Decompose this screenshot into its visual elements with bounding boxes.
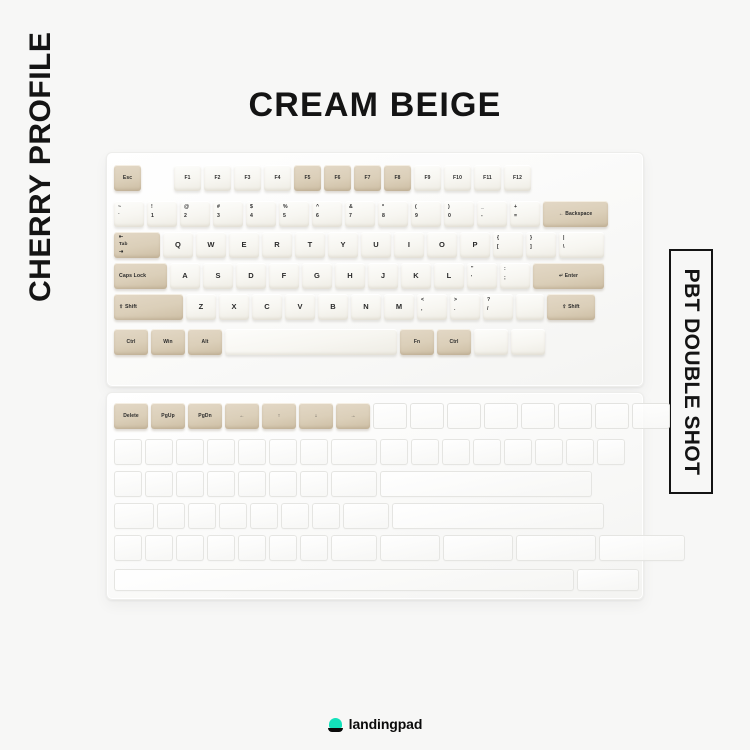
keycap-w: W (196, 232, 226, 258)
keycap-legend-bottom: [ (497, 244, 523, 251)
keycap-legend-bottom: ` (118, 213, 144, 220)
keycap-legend: L (447, 271, 452, 280)
keycap-m: M (384, 294, 414, 320)
empty-keycap-socket (380, 535, 440, 561)
empty-keycap-socket (238, 471, 266, 497)
keycap-v: V (285, 294, 315, 320)
empty-keycap-socket (207, 471, 235, 497)
keycap-win: Win (151, 329, 185, 355)
empty-keycap-socket (269, 439, 297, 465)
keycap-legend-top: ~ (118, 204, 144, 211)
keycap-legend: X (231, 302, 236, 311)
keycap-t: T (295, 232, 325, 258)
keycap-sym: :; (500, 263, 530, 289)
keycap-legend: H (347, 271, 353, 280)
empty-keycap-socket (331, 471, 377, 497)
empty-keycap-socket (300, 439, 328, 465)
keycap-legend-bottom: 3 (217, 213, 243, 220)
empty-keycap-socket (392, 503, 604, 529)
empty-keycap-socket (250, 503, 278, 529)
keycap-legend: F6 (334, 175, 340, 181)
keycap-legend: ← Backspace (559, 211, 593, 217)
keyboard-row-qwerty-row: ⇤Tab⇥QWERTYUIOP{[}]|\ (114, 232, 607, 258)
keycap-legend: U (373, 240, 379, 249)
keycap-sym: ↓ (299, 403, 333, 429)
empty-keycap-socket (331, 439, 377, 465)
keycap-legend-top: { (497, 235, 523, 242)
keycap-n: N (351, 294, 381, 320)
keycap-blank (558, 403, 592, 429)
keycap-s: S (203, 263, 233, 289)
keycap-f11: F11 (474, 165, 501, 191)
empty-keycap-socket (207, 535, 235, 561)
arrow-icon: ↓ (315, 414, 318, 419)
keycap-legend-top: # (217, 204, 243, 211)
keycap-sym: )0 (444, 201, 474, 227)
keycap-blank (474, 329, 508, 355)
keycap-legend-top: " (471, 266, 497, 273)
keyboard-row-function-row: EscF1F2F3F4F5F6F7F8F9F10F11F12 (114, 165, 534, 191)
keycap-legend: F4 (274, 175, 280, 181)
keycap-legend: F5 (304, 175, 310, 181)
keycap-legend: PgDn (198, 413, 211, 419)
product-photo: EscF1F2F3F4F5F6F7F8F9F10F11F12~`!1@2#3$4… (106, 152, 644, 600)
keycap-legend-bottom: / (487, 306, 513, 313)
keycap-sym: &7 (345, 201, 375, 227)
keycap-legend: F2 (214, 175, 220, 181)
keycap-legend: Win (163, 339, 172, 345)
keycap-d: D (236, 263, 266, 289)
keycap-legend: F8 (394, 175, 400, 181)
empty-keycap-socket (238, 439, 266, 465)
keycap-blank (410, 403, 444, 429)
keycap-legend-bottom: 5 (283, 213, 309, 220)
keycap-f7: F7 (354, 165, 381, 191)
keycap-legend: Ctrl (449, 339, 458, 345)
keycap-legend-top: % (283, 204, 309, 211)
keycap-legend: Alt (202, 339, 209, 345)
keycap-sym: %5 (279, 201, 309, 227)
keycap-r: R (262, 232, 292, 258)
empty-keycap-socket (473, 439, 501, 465)
empty-keycap-socket (145, 535, 173, 561)
keycap-legend-bottom: 6 (316, 213, 342, 220)
empty-keycap-socket (219, 503, 247, 529)
keycap-pgdn: PgDn (188, 403, 222, 429)
keycap-legend: F10 (453, 175, 462, 181)
keycap-legend: F (282, 271, 287, 280)
keycap-legend: W (207, 240, 214, 249)
keycap-blank (225, 329, 397, 355)
empty-keycap-socket (269, 535, 297, 561)
empty-keycap-socket (516, 535, 596, 561)
keycap-b: B (318, 294, 348, 320)
keycap-legend: ↵ Enter (559, 273, 578, 279)
empty-keycap-socket (145, 439, 173, 465)
empty-keycap-socket (331, 535, 377, 561)
keycap-legend: F1 (184, 175, 190, 181)
keycap-legend: P (472, 240, 477, 249)
empty-keycap-socket (238, 535, 266, 561)
keycap-legend-top: | (563, 235, 604, 242)
keycap-legend-bottom: 2 (184, 213, 210, 220)
keycap-u: U (361, 232, 391, 258)
empty-keycap-socket (114, 569, 574, 591)
keycap-c: C (252, 294, 282, 320)
keycap-blank (447, 403, 481, 429)
landingpad-dome-icon (328, 717, 343, 732)
keycap-g: G (302, 263, 332, 289)
keycap-legend: ⇤Tab⇥ (119, 234, 127, 256)
keycap-f5: F5 (294, 165, 321, 191)
keyboard-row-home-row: Caps LockASDFGHJKL"':;↵ Enter (114, 263, 607, 289)
keycap-sym: ^6 (312, 201, 342, 227)
keycap-ctrl: Ctrl (437, 329, 471, 355)
keycap-sym: "' (467, 263, 497, 289)
keycap-sym: !1 (147, 201, 177, 227)
keycap-sym: @2 (180, 201, 210, 227)
keycap-legend-bottom: 9 (415, 213, 441, 220)
empty-keycap-socket (188, 503, 216, 529)
page-title: CREAM BEIGE (0, 86, 750, 125)
keycap-blank (511, 329, 545, 355)
empty-keycap-socket (343, 503, 389, 529)
keycap-legend: V (297, 302, 302, 311)
keycap-legend: E (241, 240, 246, 249)
keycap-legend-bottom: ; (504, 275, 530, 282)
empty-keycap-socket (504, 439, 532, 465)
keycap-f2: F2 (204, 165, 231, 191)
keycap-f10: F10 (444, 165, 471, 191)
keycap-legend-bottom: - (481, 213, 507, 220)
keycap-legend-top: ^ (316, 204, 342, 211)
keycap-legend: F9 (424, 175, 430, 181)
arrow-icon: ← (239, 414, 244, 419)
empty-keycap-socket (380, 471, 592, 497)
keycap-sym: }] (526, 232, 556, 258)
keycap-f3: F3 (234, 165, 261, 191)
keycap-f8: F8 (384, 165, 411, 191)
keycap-f1: F1 (174, 165, 201, 191)
keycap-legend: ⇧ Shift (119, 304, 137, 311)
keycap-legend-top: & (349, 204, 375, 211)
keycap-legend-top: : (504, 266, 530, 273)
keycap-legend-top: + (514, 204, 540, 211)
keycap-sym: ← (225, 403, 259, 429)
keycap-sym: >. (450, 294, 480, 320)
keycap-fn: Fn (400, 329, 434, 355)
keycap-legend-bottom: ' (471, 275, 497, 282)
empty-keycap-socket (281, 503, 309, 529)
keycap-legend: J (381, 271, 385, 280)
keycap-h: H (335, 263, 365, 289)
keycap-legend: ⇧ Shift (562, 304, 579, 310)
keycap-legend: A (182, 271, 188, 280)
keycap-pgup: PgUp (151, 403, 185, 429)
keycap-legend: S (215, 271, 220, 280)
keycap-tray-top: EscF1F2F3F4F5F6F7F8F9F10F11F12~`!1@2#3$4… (106, 152, 644, 387)
keycap-f6: F6 (324, 165, 351, 191)
empty-keycap-socket (114, 439, 142, 465)
keycap-legend-top: ! (151, 204, 177, 211)
keycap-f9: F9 (414, 165, 441, 191)
keycap-sym: *8 (378, 201, 408, 227)
empty-keycap-socket (443, 535, 513, 561)
empty-keycap-socket (114, 535, 142, 561)
keycap-l: L (434, 263, 464, 289)
keycap-o: O (427, 232, 457, 258)
keycap-shift: ⇧ Shift (114, 294, 183, 320)
keycap-legend: F11 (483, 175, 492, 181)
keycap-legend: O (439, 240, 445, 249)
keycap-legend: F7 (364, 175, 370, 181)
keycap-sym: $4 (246, 201, 276, 227)
keycap-legend: Q (175, 240, 181, 249)
empty-keycap-socket (597, 439, 625, 465)
keycap-legend-bottom: , (421, 306, 447, 313)
keycap-legend-top: ) (448, 204, 474, 211)
keycap-legend-bottom: 4 (250, 213, 276, 220)
keycap-alt: Alt (188, 329, 222, 355)
empty-keycap-socket (300, 471, 328, 497)
keycap-f12: F12 (504, 165, 531, 191)
keycap-legend-bottom: . (454, 306, 480, 313)
keycap-sym: ↑ (262, 403, 296, 429)
empty-keycap-socket (535, 439, 563, 465)
keycap-e: E (229, 232, 259, 258)
empty-keycap-socket (176, 471, 204, 497)
empty-keycap-socket (380, 439, 408, 465)
empty-keycap-socket (157, 503, 185, 529)
keyboard-row-number-row: ~`!1@2#3$4%5^6&7*8(9)0_-+=← Backspace (114, 201, 611, 227)
keycap-sym: → (336, 403, 370, 429)
keycap-legend: F12 (513, 175, 522, 181)
keycap-legend-bottom: 8 (382, 213, 408, 220)
keycap-f: F (269, 263, 299, 289)
empty-keycap-socket (176, 439, 204, 465)
empty-keycap-socket (566, 439, 594, 465)
keycap-x: X (219, 294, 249, 320)
keycap-legend-bottom: ] (530, 244, 556, 251)
keycap-blank (484, 403, 518, 429)
keycap-legend: N (363, 302, 369, 311)
keycap-legend: Ctrl (126, 339, 135, 345)
keycap-legend-top: < (421, 297, 447, 304)
keycap-legend-bottom: = (514, 213, 540, 220)
keycap-sym: (9 (411, 201, 441, 227)
keycap-legend: Z (199, 302, 204, 311)
keycap-blank (632, 403, 670, 429)
keycap-legend-top: $ (250, 204, 276, 211)
keycap-legend: D (248, 271, 254, 280)
keycap-a: A (170, 263, 200, 289)
keycap-legend: Y (340, 240, 345, 249)
material-label: PBT DOUBLE SHOT (679, 268, 703, 475)
keycap-blank (373, 403, 407, 429)
keycap-legend: T (308, 240, 313, 249)
keycap-sym: ?/ (483, 294, 513, 320)
empty-keycap-socket (207, 439, 235, 465)
keycap-q: Q (163, 232, 193, 258)
keycap-legend: Esc (123, 175, 132, 181)
keycap-p: P (460, 232, 490, 258)
keycap-legend-top: } (530, 235, 556, 242)
keycap-i: I (394, 232, 424, 258)
brand-name: landingpad (349, 716, 423, 732)
keycap-z: Z (186, 294, 216, 320)
keyboard-row-nav: DeletePgUpPgDn←↑↓→ (114, 403, 673, 429)
keycap-k: K (401, 263, 431, 289)
arrow-icon: → (350, 414, 355, 419)
empty-keycap-socket (145, 471, 173, 497)
keycap-legend: C (264, 302, 270, 311)
keycap-legend-bottom: 0 (448, 213, 474, 220)
keycap-legend-top: ( (415, 204, 441, 211)
empty-keycap-socket (176, 535, 204, 561)
keycap-shift: ⇧ Shift (547, 294, 595, 320)
footer: landingpad (0, 716, 750, 732)
material-badge: PBT DOUBLE SHOT (669, 249, 713, 494)
keycap-delete: Delete (114, 403, 148, 429)
empty-keycap-socket (312, 503, 340, 529)
keycap-legend-bottom: 1 (151, 213, 177, 220)
keycap-legend: R (274, 240, 280, 249)
keycap-sym: <, (417, 294, 447, 320)
keycap-legend: Delete (123, 413, 139, 419)
empty-keycap-socket (114, 503, 154, 529)
keycap-sym: |\ (559, 232, 604, 258)
keycap-legend: M (396, 302, 402, 311)
keycap-sym: {[ (493, 232, 523, 258)
keycap-enter: ↵ Enter (533, 263, 604, 289)
keycap-sym: ~` (114, 201, 144, 227)
empty-keycap-socket (577, 569, 639, 591)
keycap-legend-top: _ (481, 204, 507, 211)
keycap-legend: PgUp (161, 413, 174, 419)
empty-keycap-socket (300, 535, 328, 561)
keycap-legend-top: ? (487, 297, 513, 304)
keycap-sym: #3 (213, 201, 243, 227)
keyboard-row-shift-row: ⇧ ShiftZXCVBNM<,>.?/⇧ Shift (114, 294, 598, 320)
keyboard-row-bottom-row: CtrlWinAltFnCtrl (114, 329, 548, 359)
keycap-y: Y (328, 232, 358, 258)
keycap-caps-lock: Caps Lock (114, 263, 167, 289)
profile-label: CHERRY PROFILE (24, 2, 58, 302)
arrow-icon: ↑ (278, 414, 281, 419)
empty-keycap-socket (599, 535, 685, 561)
keycap-sym: += (510, 201, 540, 227)
keycap-legend: Caps Lock (119, 273, 146, 280)
keycap-blank (521, 403, 555, 429)
keycap-backspace: ← Backspace (543, 201, 608, 227)
keycap-legend: G (314, 271, 320, 280)
keycap-legend: Fn (414, 339, 420, 345)
keycap-legend: B (330, 302, 336, 311)
keycap-ctrl: Ctrl (114, 329, 148, 355)
keycap-legend: I (408, 240, 410, 249)
empty-keycap-socket (442, 439, 470, 465)
keycap-blank (516, 294, 544, 320)
empty-keycap-socket (114, 471, 142, 497)
keycap-f4: F4 (264, 165, 291, 191)
keycap-legend-bottom: 7 (349, 213, 375, 220)
keycap-tray-bottom: DeletePgUpPgDn←↑↓→ (106, 392, 644, 600)
empty-keycap-socket (411, 439, 439, 465)
keycap-legend-top: * (382, 204, 408, 211)
keycap-legend: K (413, 271, 419, 280)
keycap-j: J (368, 263, 398, 289)
keycap-legend-top: > (454, 297, 480, 304)
keycap-legend-bottom: \ (563, 244, 604, 251)
keycap-legend-top: @ (184, 204, 210, 211)
keycap-tab: ⇤Tab⇥ (114, 232, 160, 258)
keycap-esc: Esc (114, 165, 141, 191)
keycap-sym: _- (477, 201, 507, 227)
keycap-blank (595, 403, 629, 429)
keycap-legend: F3 (244, 175, 250, 181)
empty-keycap-socket (269, 471, 297, 497)
